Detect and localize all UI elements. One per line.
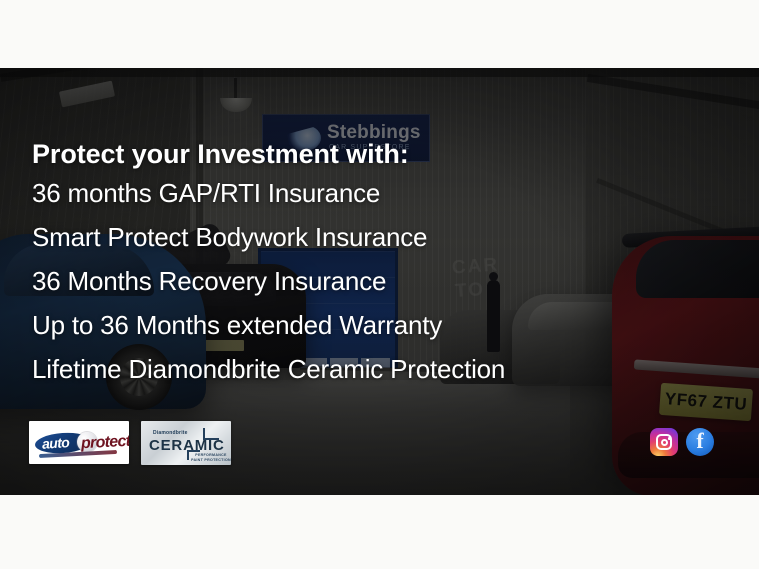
instagram-lens bbox=[661, 439, 668, 446]
ceramic-tagline-text: PERFORMANCE PAINT PROTECTION bbox=[191, 453, 231, 464]
social-links: f bbox=[650, 428, 714, 456]
letterbox-top bbox=[0, 0, 759, 68]
autoprotect-word-auto: auto bbox=[41, 434, 69, 452]
promo-banner: Stebbings CAR SUPERSTORE CAR TO bbox=[0, 0, 759, 569]
benefit-line-1: 36 months GAP/RTI Insurance bbox=[32, 180, 505, 206]
benefit-line-5: Lifetime Diamondbrite Ceramic Protection bbox=[32, 356, 505, 382]
ceramic-corner-mark-icon bbox=[187, 450, 200, 452]
instagram-icon[interactable] bbox=[650, 428, 678, 456]
facebook-icon[interactable]: f bbox=[686, 428, 714, 456]
ceramic-corner-mark-icon bbox=[187, 451, 189, 460]
benefit-line-2: Smart Protect Bodywork Insurance bbox=[32, 224, 505, 250]
benefit-line-3: 36 Months Recovery Insurance bbox=[32, 268, 505, 294]
diamondbrite-brand-text: Diamondbrite bbox=[153, 430, 188, 436]
page-title: Protect your Investment with: bbox=[32, 141, 505, 168]
benefit-line-4: Up to 36 Months extended Warranty bbox=[32, 312, 505, 338]
facebook-glyph: f bbox=[686, 428, 714, 456]
autoprotect-logo: auto protect bbox=[29, 421, 129, 464]
partner-logos: auto protect Diamondbrite CERAMIC PERFOR… bbox=[29, 421, 231, 465]
diamondbrite-ceramic-logo: Diamondbrite CERAMIC PERFORMANCE PAINT P… bbox=[141, 421, 231, 465]
instagram-dot bbox=[668, 437, 671, 440]
promo-copy: Protect your Investment with: 36 months … bbox=[32, 141, 505, 382]
letterbox-bottom bbox=[0, 495, 759, 569]
